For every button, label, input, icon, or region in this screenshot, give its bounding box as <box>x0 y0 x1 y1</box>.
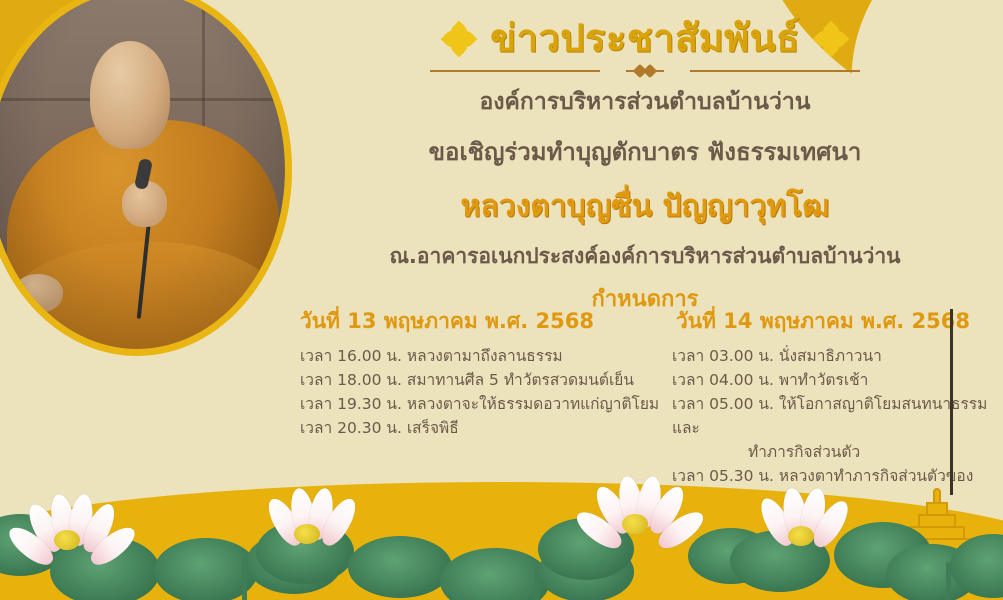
item-text: เวลา 16.00 น. หลวงตามาถึงลานธรรม <box>300 347 563 365</box>
invitation-line: ขอเชิญร่วมทำบุญตักบาตร ฟังธรรมเทศนา <box>300 132 990 171</box>
lotus-cluster-3 <box>262 486 452 600</box>
list-item: เวลา 16.00 น. หลวงตามาถึงลานธรรม <box>300 344 636 368</box>
day2-date: วันที่ 14 พฤษภาคม พ.ศ. 2568 <box>676 305 990 338</box>
venue-line: ณ.อาคารอเนกประสงค์องค์การบริหารส่วนตำบลบ… <box>300 240 990 273</box>
item-text: เวลา 05.00 น. ให้โอกาสญาติโยมสนทนาธรรมแล… <box>672 395 987 437</box>
lotus-cluster-5 <box>548 476 758 600</box>
list-item: เวลา 18.00 น. สมาทานศีล 5 ทำวัตรสวดมนต์เ… <box>300 368 636 392</box>
item-text: เวลา 03.00 น. นั่งสมาธิภาวนา <box>672 347 882 365</box>
poster-header: ข่าวประชาสัมพันธ์ องค์การบริหารส่วนตำบลบ… <box>300 18 990 316</box>
quatrefoil-ornament-left-icon <box>444 24 474 54</box>
monk-portrait <box>0 0 292 356</box>
ornamental-divider-icon <box>430 64 860 78</box>
item-continuation: ทำภารกิจส่วนตัว <box>672 440 990 464</box>
list-item: เวลา 05.00 น. ให้โอกาสญาติโยมสนทนาธรรมแล… <box>672 392 990 464</box>
page-title: ข่าวประชาสัมพันธ์ <box>490 18 800 60</box>
organization-name: องค์การบริหารส่วนตำบลบ้านว่าน <box>300 84 990 120</box>
announcement-poster: ข่าวประชาสัมพันธ์ องค์การบริหารส่วนตำบลบ… <box>0 0 1003 600</box>
list-item: เวลา 03.00 น. นั่งสมาธิภาวนา <box>672 344 990 368</box>
title-row: ข่าวประชาสัมพันธ์ <box>300 18 990 60</box>
quatrefoil-ornament-right-icon <box>816 24 846 54</box>
item-text: เวลา 04.00 น. พาทำวัตรเช้า <box>672 371 868 389</box>
item-text: เวลา 19.30 น. หลวงตาจะให้ธรรมดอวาทแก่ญาต… <box>300 395 659 413</box>
day1-date: วันที่ 13 พฤษภาคม พ.ศ. 2568 <box>300 305 636 338</box>
list-item: เวลา 19.30 น. หลวงตาจะให้ธรรมดอวาทแก่ญาต… <box>300 392 636 416</box>
lotus-cluster-7 <box>880 500 1003 600</box>
column-divider <box>950 309 953 495</box>
list-item: เวลา 04.00 น. พาทำวัตรเช้า <box>672 368 990 392</box>
item-text: เวลา 18.00 น. สมาทานศีล 5 ทำวัตรสวดมนต์เ… <box>300 371 634 389</box>
item-text: เวลา 20.30 น. เสร็จพิธี <box>300 419 459 437</box>
monk-name: หลวงตาบุญซื่น ปัญญาวุทโฒ <box>300 183 990 230</box>
list-item: เวลา 20.30 น. เสร็จพิธี <box>300 416 636 440</box>
